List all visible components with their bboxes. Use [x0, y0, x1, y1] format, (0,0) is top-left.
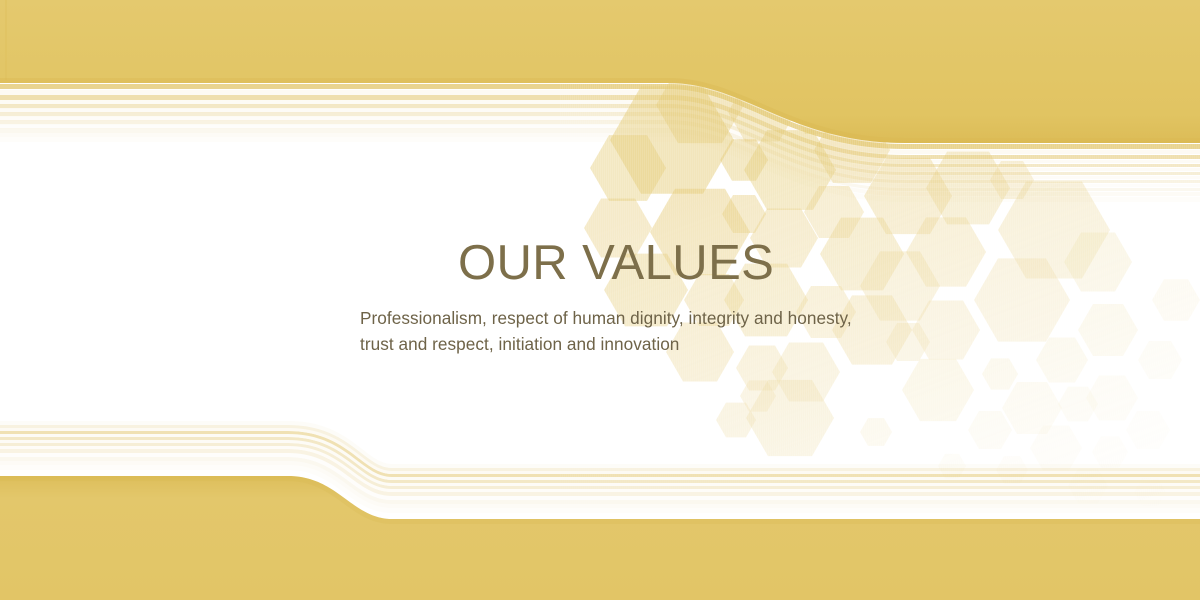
subtitle-line-2: trust and respect, initiation and innova… [360, 331, 980, 357]
subtitle: Professionalism, respect of human dignit… [360, 305, 980, 357]
page-title: OUR VALUES [360, 239, 1060, 288]
values-banner: OUR VALUES Professionalism, respect of h… [0, 0, 1200, 600]
text-layer: OUR VALUES Professionalism, respect of h… [0, 0, 1200, 600]
subtitle-line-1: Professionalism, respect of human dignit… [360, 305, 980, 331]
